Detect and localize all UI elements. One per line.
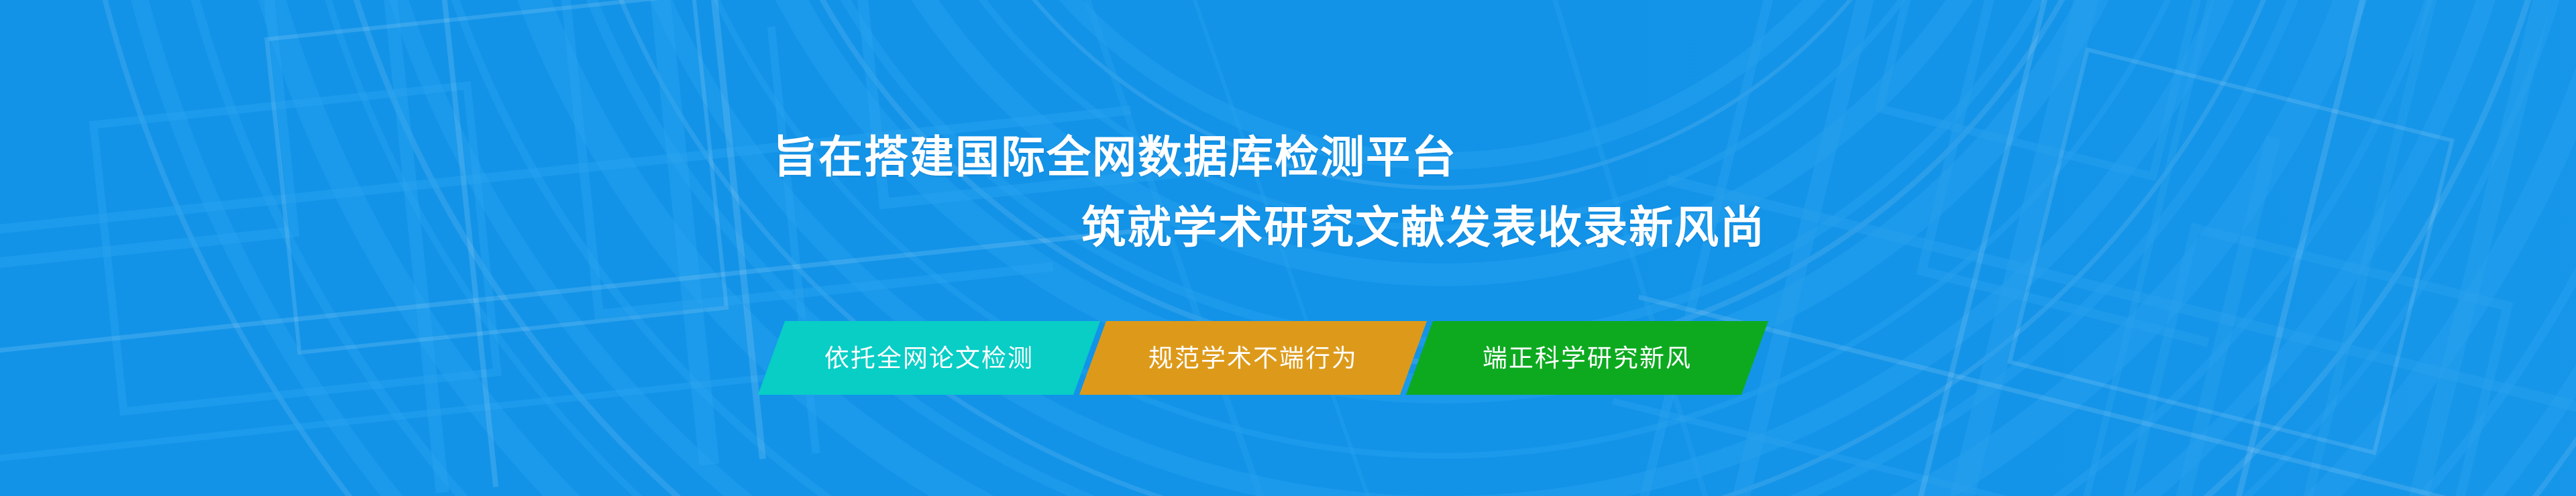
feature-tab-academic-misconduct[interactable]: 规范学术不端行为: [1079, 321, 1427, 395]
feature-tab-paper-detection[interactable]: 依托全网论文检测: [758, 321, 1100, 395]
feature-tab-label: 规范学术不端行为: [1148, 346, 1358, 371]
headline-line-1: 旨在搭建国际全网数据库检测平台: [773, 135, 1457, 179]
concentric-arcs-decoration: [0, 0, 2576, 496]
feature-tab-label: 依托全网论文检测: [824, 346, 1034, 371]
headline-block: 旨在搭建国际全网数据库检测平台 筑就学术研究文献发表收录新风尚: [0, 0, 2576, 496]
feature-tab-strip: 依托全网论文检测 规范学术不端行为 端正科学研究新风: [771, 321, 1755, 395]
headline-line-2: 筑就学术研究文献发表收录新风尚: [1081, 205, 1766, 249]
circuit-lines-decoration: [0, 0, 2576, 496]
feature-tab-research-ethics[interactable]: 端正科学研究新风: [1406, 321, 1768, 395]
feature-tab-label: 端正科学研究新风: [1483, 346, 1692, 371]
hero-banner: 旨在搭建国际全网数据库检测平台 筑就学术研究文献发表收录新风尚 依托全网论文检测…: [0, 0, 2576, 496]
